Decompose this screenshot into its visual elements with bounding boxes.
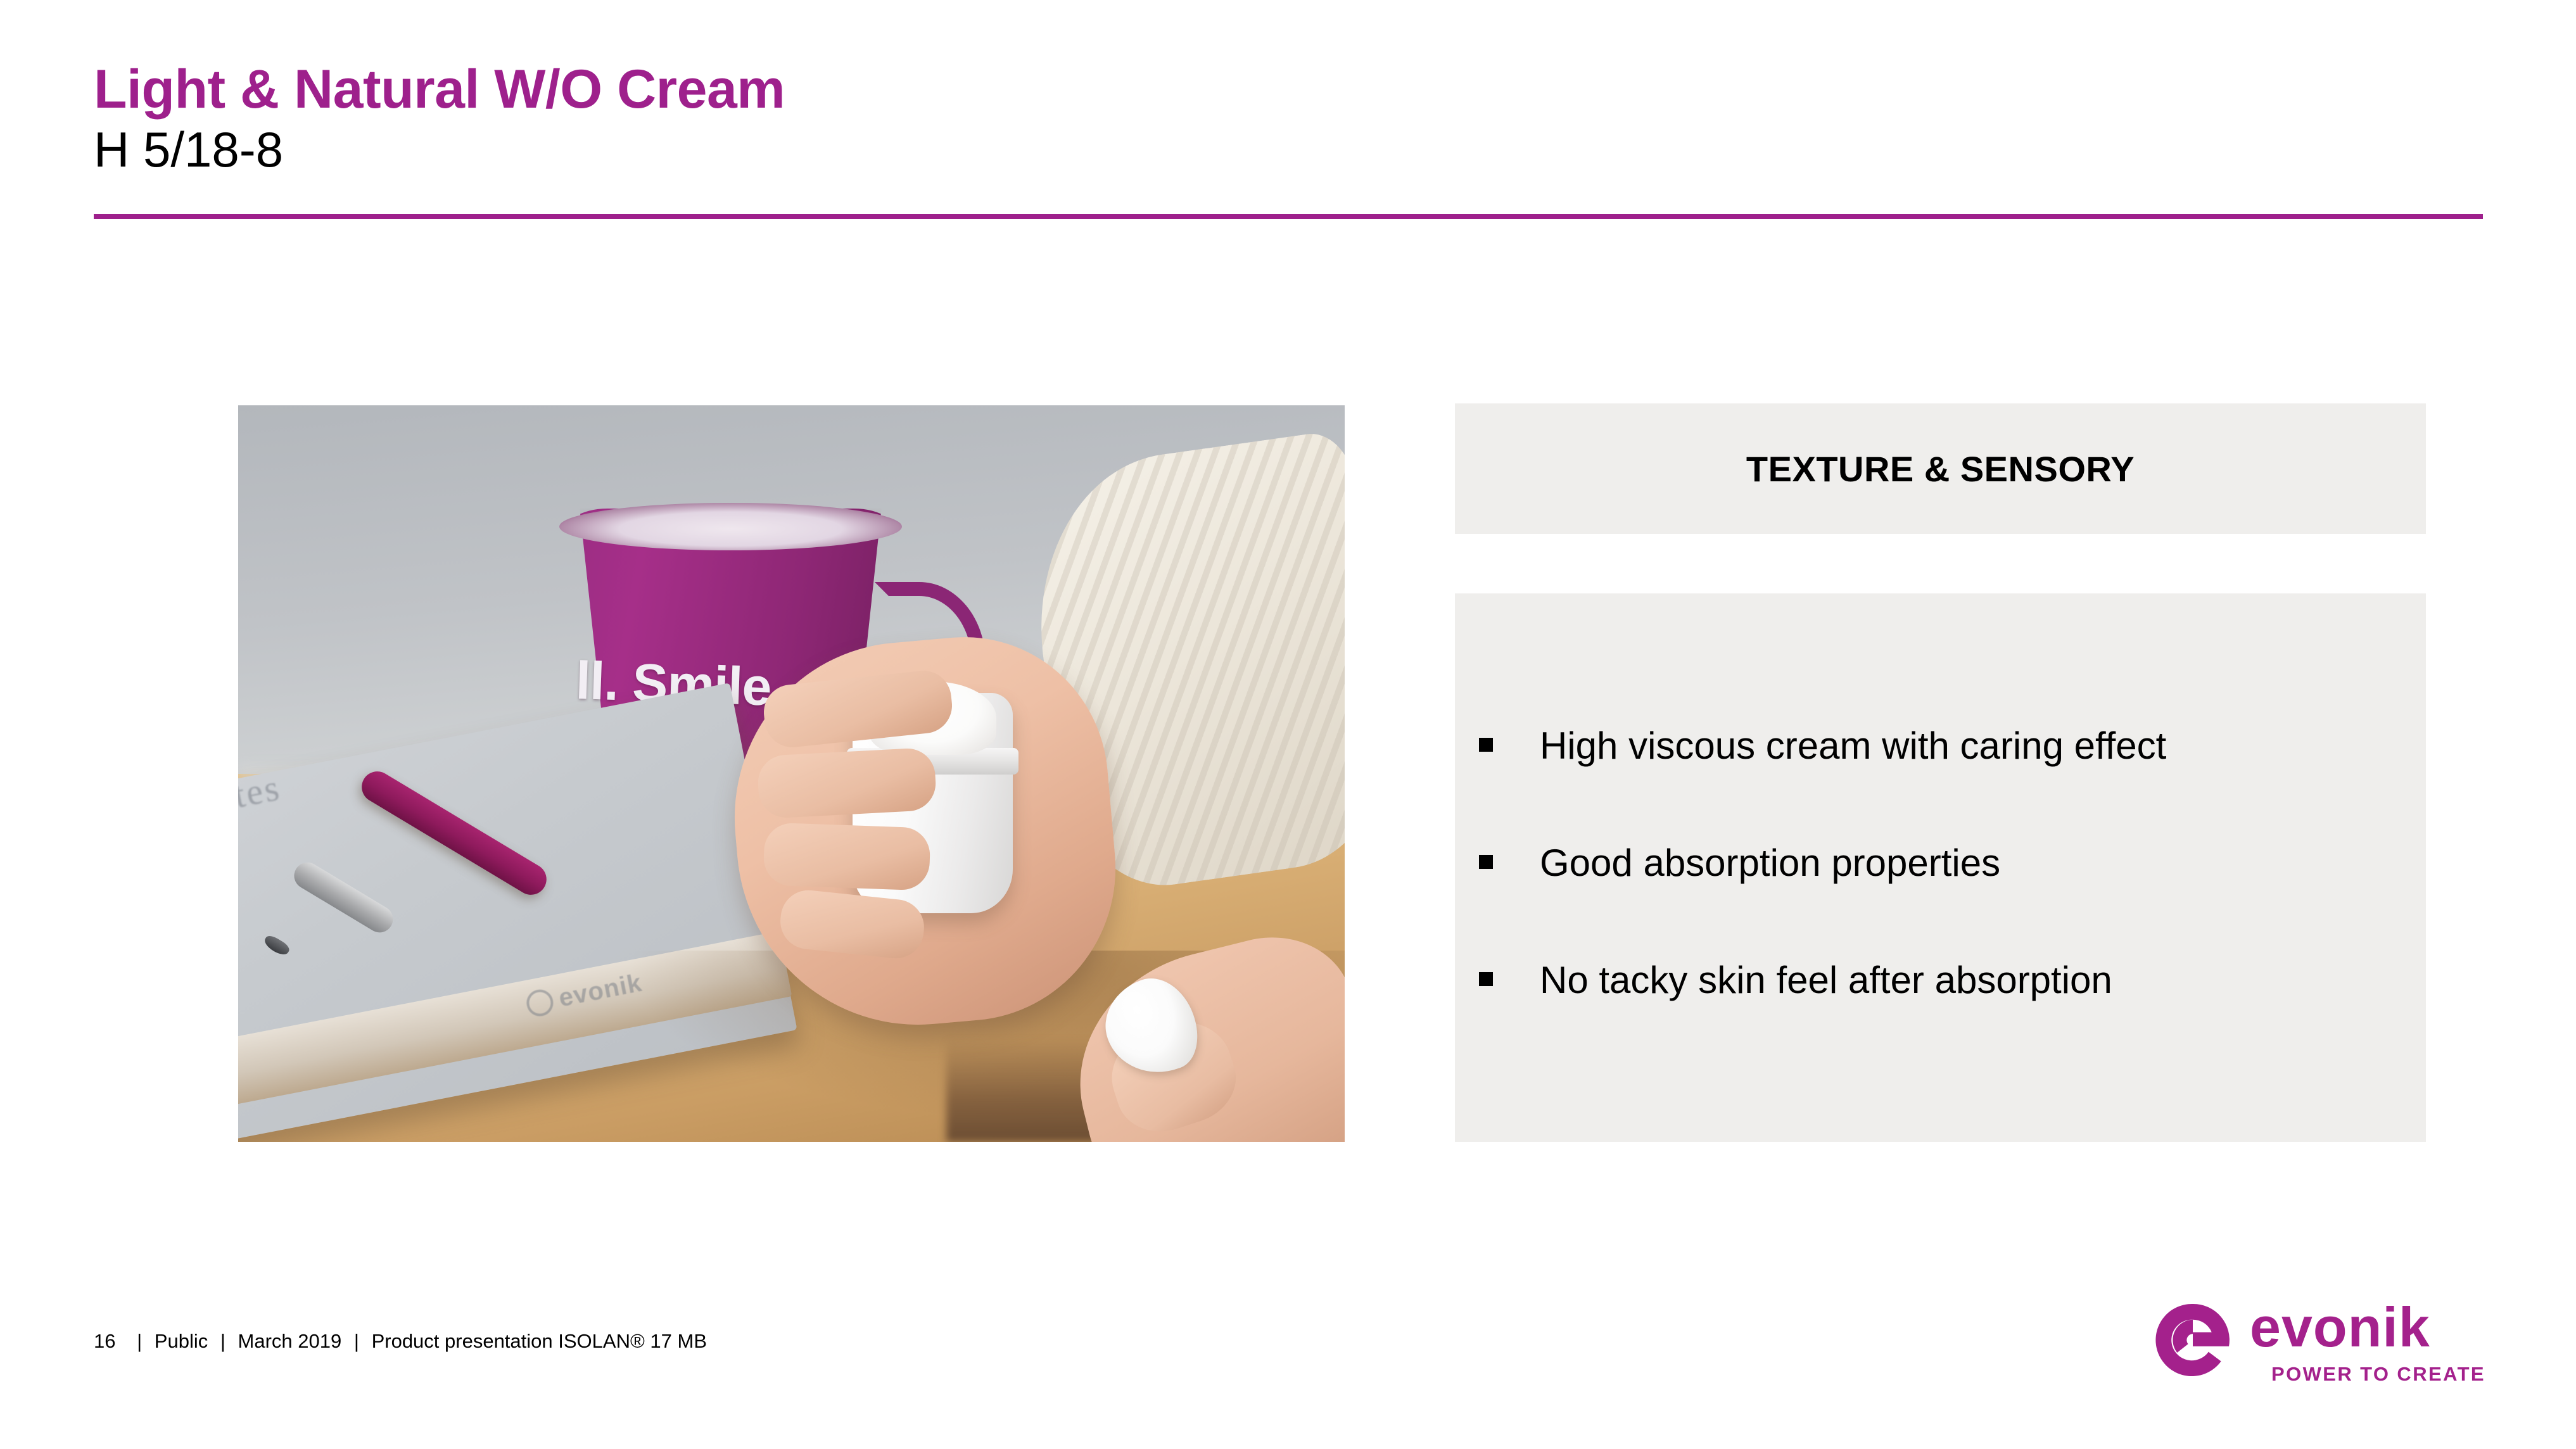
footer-separator: |: [347, 1330, 366, 1352]
evonik-tagline: POWER TO CREATE: [2271, 1364, 2485, 1384]
photo-finger-ring: [763, 822, 930, 890]
square-bullet-icon: [1479, 855, 1493, 869]
footer-date: March 2019: [238, 1330, 342, 1352]
list-item: Good absorption properties: [1479, 840, 2401, 886]
evonik-wordmark: evonik: [2250, 1300, 2430, 1355]
list-item-label: No tacky skin feel after absorption: [1540, 957, 2112, 1003]
photo-finger-middle: [757, 747, 937, 818]
page-subtitle: H 5/18-8: [94, 122, 2121, 177]
title-divider: [94, 214, 2483, 219]
footer-classification: Public: [155, 1330, 208, 1352]
texture-sensory-header-label: TEXTURE & SENSORY: [1746, 448, 2135, 490]
evonik-logo: evonik POWER TO CREATE: [2154, 1297, 2496, 1395]
slide-canvas: Light & Natural W/O Cream H 5/18-8 ll. S…: [0, 0, 2576, 1449]
slide-title-block: Light & Natural W/O Cream H 5/18-8: [94, 61, 2121, 178]
photo-stage: ll. Smile. notes evonik: [238, 405, 1345, 1142]
page-title: Light & Natural W/O Cream: [94, 61, 2121, 118]
footer-page-number: 16: [94, 1330, 124, 1352]
photo-notebook-logo-ring: [524, 987, 555, 1018]
photo-mug-rim: [559, 503, 903, 551]
texture-sensory-body: High viscous cream with caring effect Go…: [1455, 593, 2426, 1142]
square-bullet-icon: [1479, 972, 1493, 986]
bullet-list: High viscous cream with caring effect Go…: [1479, 723, 2401, 1004]
footer-document-title: Product presentation ISOLAN® 17 MB: [372, 1330, 707, 1352]
square-bullet-icon: [1479, 738, 1493, 752]
footer-separator: |: [213, 1330, 232, 1352]
product-photo: ll. Smile. notes evonik: [238, 405, 1345, 1142]
list-item-label: Good absorption properties: [1540, 840, 2000, 886]
slide-footer: 16 | Public | March 2019 | Product prese…: [94, 1330, 707, 1353]
list-item: No tacky skin feel after absorption: [1479, 957, 2401, 1003]
list-item: High viscous cream with caring effect: [1479, 723, 2401, 769]
list-item-label: High viscous cream with caring effect: [1540, 723, 2166, 769]
texture-sensory-header: TEXTURE & SENSORY: [1455, 403, 2426, 534]
evonik-mark-icon: [2154, 1301, 2232, 1379]
footer-separator: |: [130, 1330, 149, 1352]
